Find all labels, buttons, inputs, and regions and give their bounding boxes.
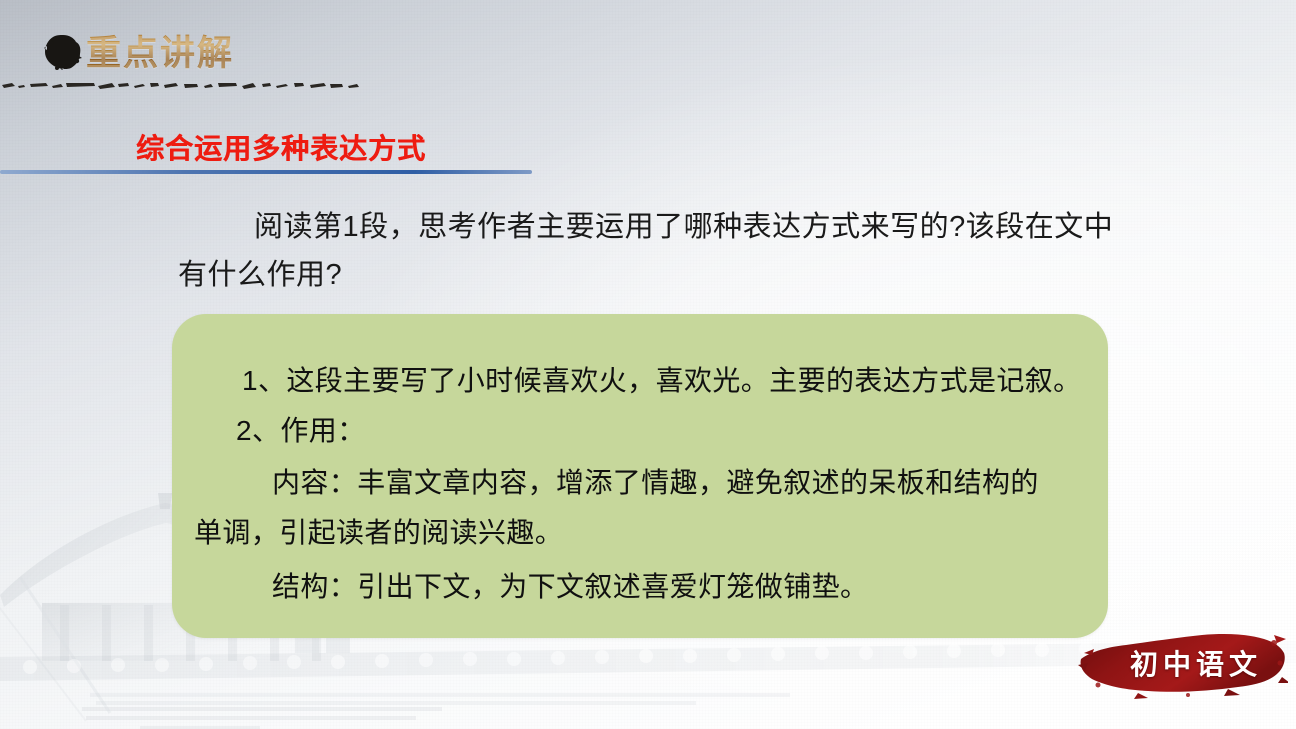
- answer-line-4: 单调，引起读者的阅读兴趣。: [194, 508, 563, 558]
- answer-line-1: 1、这段主要写了小时候喜欢火，喜欢光。主要的表达方式是记叙。: [242, 356, 1082, 406]
- red-brush-seal-icon: [1078, 623, 1288, 701]
- page-title: 重点讲解: [86, 32, 234, 76]
- slide-canvas: 重点讲解 综合运用多种表达方式 阅读第1段，思考作: [0, 0, 1296, 729]
- brand-seal: 初中语文: [1078, 623, 1288, 701]
- answer-line-5: 结构：引出下文，为下文叙述喜爱灯笼做铺垫。: [272, 562, 868, 612]
- subheading-underline: [0, 170, 532, 174]
- answer-line-3: 内容：丰富文章内容，增添了情趣，避免叙述的呆板和结构的: [272, 458, 1039, 508]
- subheading: 综合运用多种表达方式: [136, 131, 426, 167]
- brush-dashed-rule-icon: [0, 78, 368, 92]
- answer-card: 1、这段主要写了小时候喜欢火，喜欢光。主要的表达方式是记叙。 2、作用： 内容：…: [172, 314, 1108, 638]
- ink-blob-icon: [44, 34, 82, 70]
- answer-lines: 1、这段主要写了小时候喜欢火，喜欢光。主要的表达方式是记叙。 2、作用： 内容：…: [172, 314, 1108, 638]
- question-text: 阅读第1段，思考作者主要运用了哪种表达方式来写的?该段在文中有什么作用?: [178, 203, 1118, 299]
- answer-line-2: 2、作用：: [236, 406, 366, 456]
